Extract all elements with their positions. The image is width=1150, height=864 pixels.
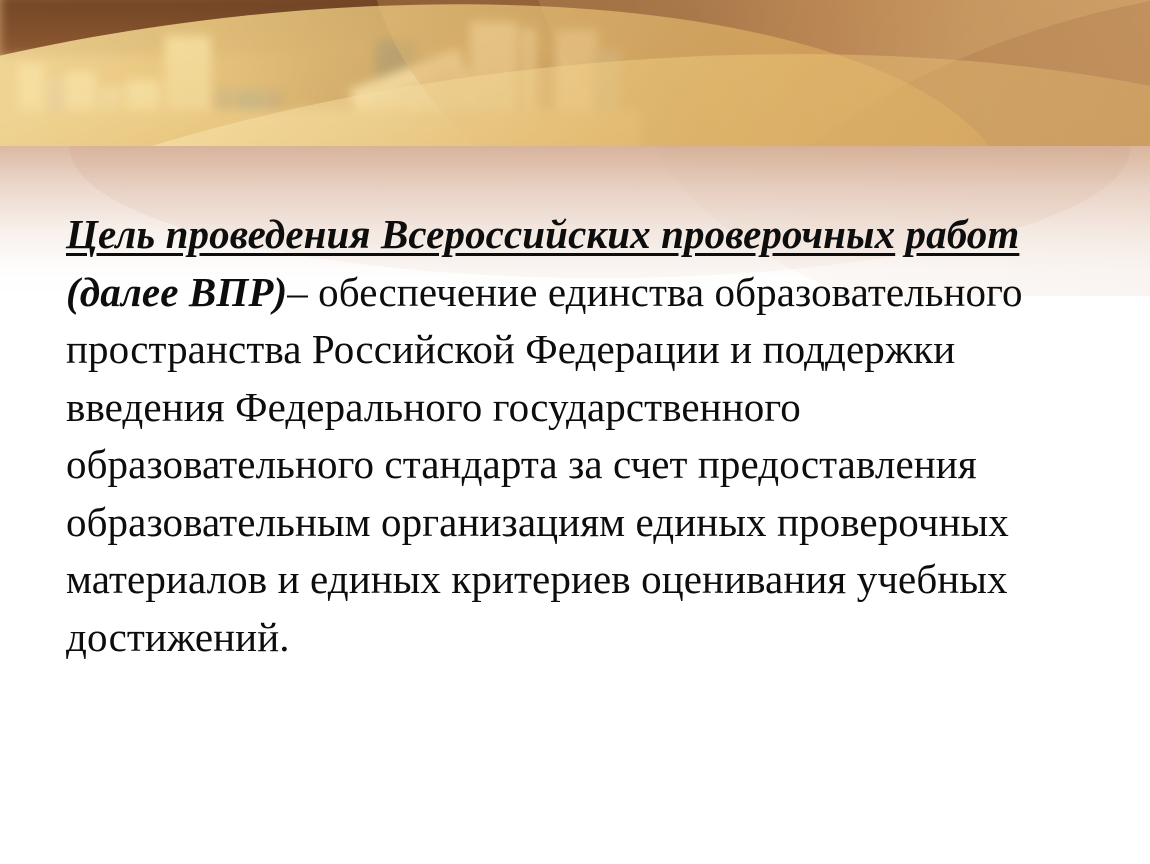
slide-body: Цель проведения Всероссийских проверочны… xyxy=(66,206,1076,666)
shelf-surface xyxy=(0,110,640,146)
slide: Цель проведения Всероссийских проверочны… xyxy=(0,0,1150,864)
body-rest-text: – обеспечение единства образовательного … xyxy=(66,269,1023,660)
body-paragraph: Цель проведения Всероссийских проверочны… xyxy=(66,206,1076,666)
lead-underlined-text: Цель проведения Всероссийских проверочны… xyxy=(66,211,895,257)
lead-underlined-text-continued: работ xyxy=(906,211,1020,257)
wooden-wall xyxy=(0,0,640,56)
decorative-header-banner xyxy=(0,0,1150,146)
lead-plain-text: (далее ВПР) xyxy=(66,269,287,315)
bookshelf-photo xyxy=(0,0,620,146)
